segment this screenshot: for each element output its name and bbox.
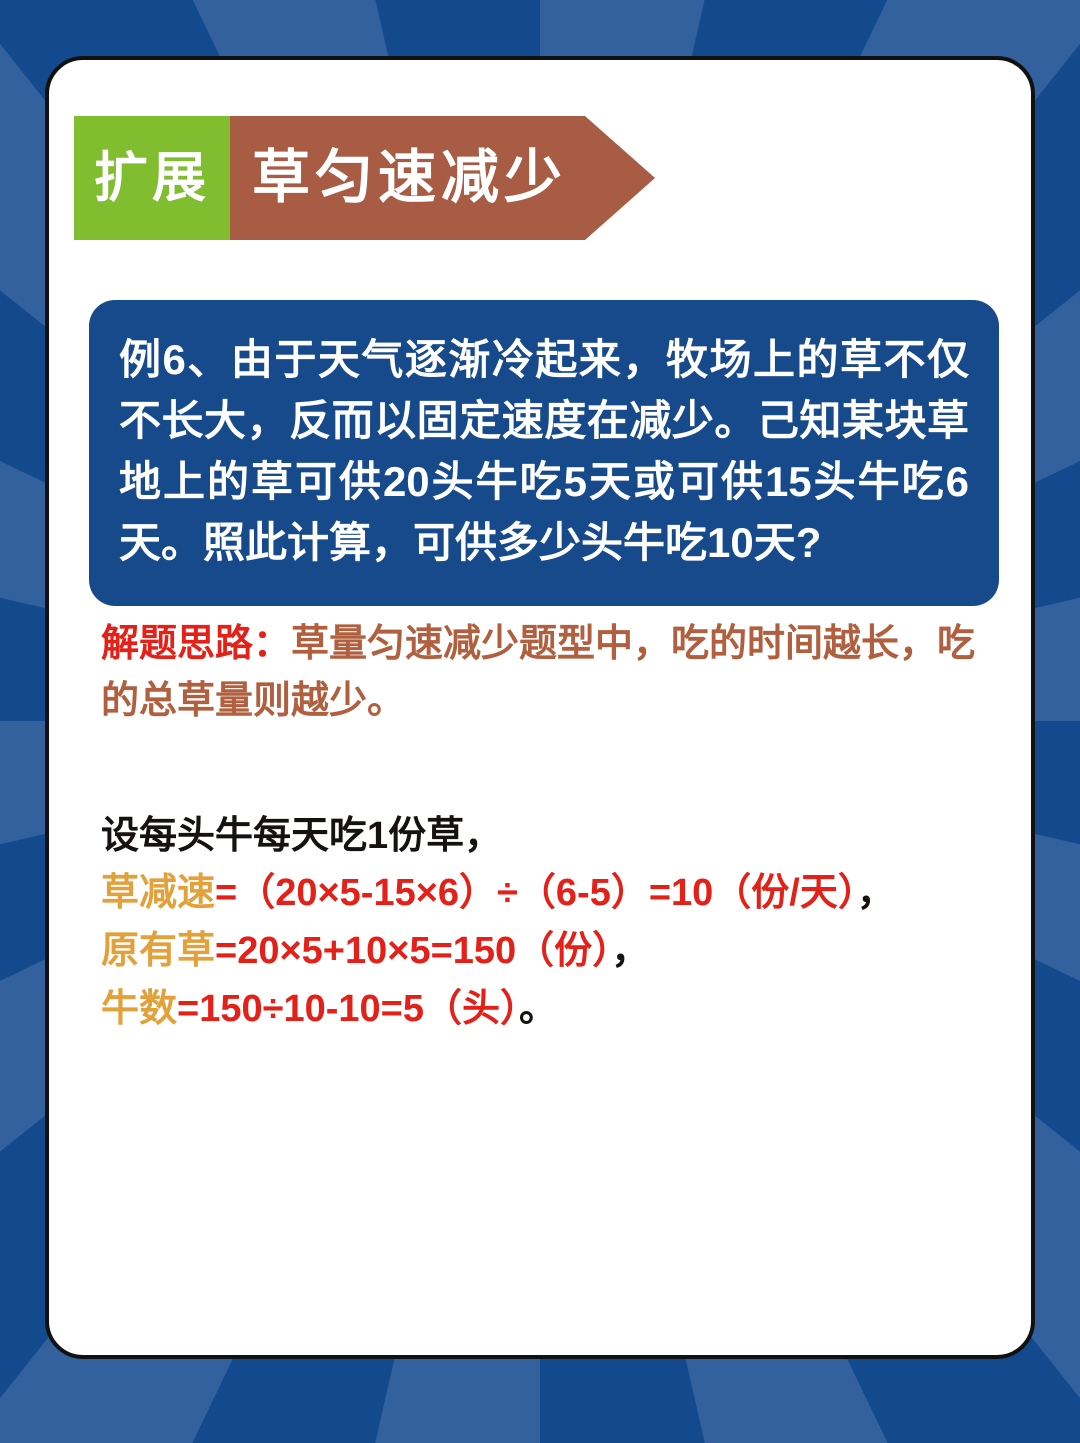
solution-setup-line: 设每头牛每天吃1份草， (101, 808, 1001, 865)
content-card: 扩展 草匀速减少 例6、由于天气逐渐冷起来，牧场上的草不仅不长大，反而以固定速度… (45, 56, 1035, 1359)
question-box: 例6、由于天气逐渐冷起来，牧场上的草不仅不长大，反而以固定速度在减少。己知某块草… (89, 300, 999, 606)
formula-expression-2: =20×5+10×5=150（份） (215, 930, 611, 972)
formula-row-2: 原有草=20×5+10×5=150（份）， (101, 923, 1001, 981)
header-banner: 扩展 草匀速减少 (74, 116, 655, 240)
banner-tag-badge: 扩展 (74, 116, 230, 240)
solution-area: 解题思路：草量匀速减少题型中，吃的时间越长，吃的总草量则越少。 设每头牛每天吃1… (101, 616, 1001, 1038)
question-text: 例6、由于天气逐渐冷起来，牧场上的草不仅不长大，反而以固定速度在减少。己知某块草… (119, 330, 969, 574)
formula-label-2: 原有草 (101, 930, 215, 972)
formula-tail-2: ， (611, 930, 649, 972)
formula-expression-1: =（20×5-15×6）÷（6-5）=10（份/天） (215, 872, 857, 914)
formula-row-1: 草减速=（20×5-15×6）÷（6-5）=10（份/天）， (101, 865, 1001, 923)
banner-tag-label: 扩展 (94, 151, 210, 205)
banner-arrow: 草匀速减少 (230, 116, 655, 240)
solution-idea-label: 解题思路： (101, 623, 291, 665)
banner-arrow-body: 草匀速减少 (230, 116, 585, 240)
formula-expression-3: =150÷10-10=5（头） (177, 988, 519, 1030)
formula-tail-3: 。 (519, 988, 557, 1030)
formula-label-1: 草减速 (101, 872, 215, 914)
formula-tail-1: ， (857, 872, 895, 914)
banner-arrow-tip-icon (585, 116, 655, 240)
banner-title-label: 草匀速减少 (252, 149, 567, 207)
formula-label-3: 牛数 (101, 988, 177, 1030)
formula-row-3: 牛数=150÷10-10=5（头）。 (101, 981, 1001, 1039)
solution-idea: 解题思路：草量匀速减少题型中，吃的时间越长，吃的总草量则越少。 (101, 616, 1001, 730)
